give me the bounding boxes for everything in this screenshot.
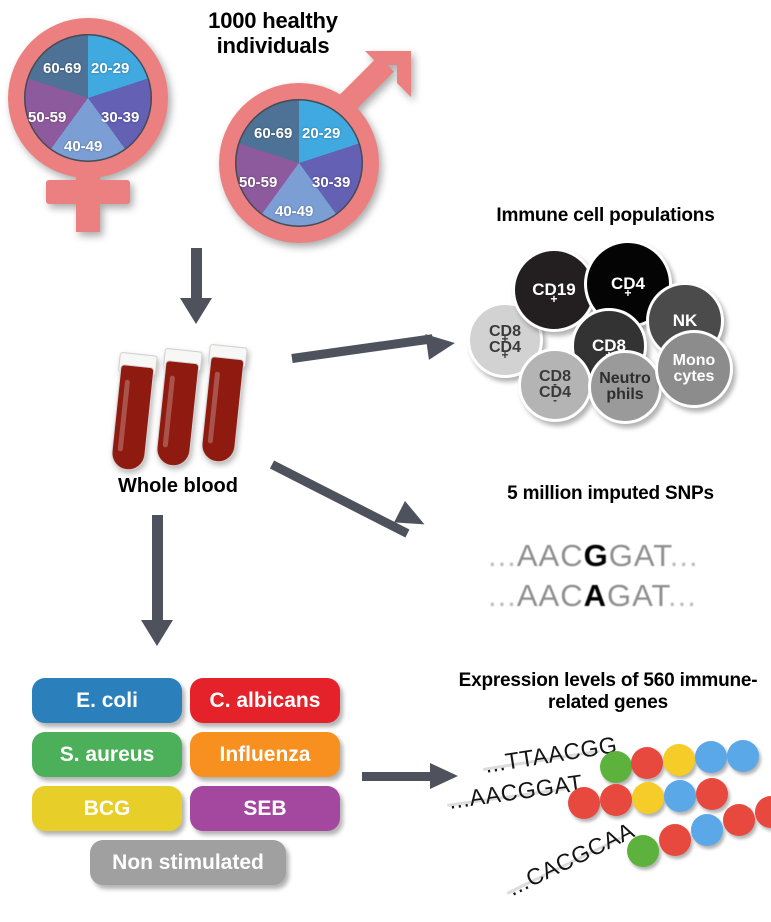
cell-label-line2: CD4- (539, 385, 571, 401)
female-stem-cross (46, 180, 130, 204)
cell-label: CD4+ (611, 275, 645, 292)
cell-label-line1: Neutro (599, 371, 651, 387)
arrow-blood-to-snps (272, 450, 462, 560)
pie-label-50-59-female: 50-59 (28, 109, 66, 126)
cell-label-line2: CD4+ (489, 340, 521, 356)
rna-bead (727, 740, 759, 772)
section-title-immune-cells: Immune cell populations (440, 205, 771, 227)
rna-bead (664, 780, 696, 812)
stimulus-seb[interactable]: SEB (190, 786, 340, 831)
snp-suffix: ... (670, 538, 699, 573)
rna-bead (695, 741, 727, 773)
rna-sequence-2: ...AACGGAT (447, 769, 584, 815)
male-gender-symbol: 60-69 20-29 50-59 30-39 40-49 (205, 55, 410, 250)
rna-bead (600, 784, 632, 816)
section-title-snps: 5 million imputed SNPs (450, 483, 771, 505)
snp-sequence-row-2: ...AACAGAT... (488, 578, 697, 614)
stimulus-influenza[interactable]: Influenza (190, 732, 340, 777)
pie-label-40-49-female: 40-49 (64, 138, 102, 155)
cell-label: CD19+ (532, 281, 575, 298)
rna-bead (632, 782, 664, 814)
rna-bead (627, 835, 659, 867)
snp-prefix: ... (488, 538, 517, 573)
rna-bead (631, 747, 663, 779)
rna-sequence-3: ...CACGCAA (503, 817, 639, 902)
pie-label-30-39-female: 30-39 (101, 109, 139, 126)
whole-blood-tubes (118, 338, 293, 473)
snp-variant-allele: A (584, 578, 607, 613)
snp-sequence-row-1: ...AACGGAT... (488, 538, 699, 574)
stimulus-c-albicans[interactable]: C. albicans (190, 678, 340, 723)
pie-label-40-49-male: 40-49 (275, 203, 313, 220)
snp-right: GAT (607, 578, 668, 613)
stimulation-conditions-grid: E. coli C. albicans S. aureus Influenza … (32, 678, 344, 893)
stimulus-non-stimulated[interactable]: Non stimulated (90, 840, 286, 885)
snp-prefix: ... (488, 578, 517, 613)
rna-bead (600, 751, 632, 783)
rna-sequence-1: ...TTAACGG (483, 731, 619, 779)
pie-label-20-29-female: 20-29 (91, 60, 129, 77)
stimulus-s-aureus[interactable]: S. aureus (32, 732, 182, 777)
rna-strands-group: ...TTAACGG ...AACGGAT ...CACGCAA (455, 740, 771, 910)
pie-label-30-39-male: 30-39 (312, 174, 350, 191)
snp-left: AAC (517, 538, 584, 573)
snp-variant-allele: G (584, 538, 609, 573)
stimulus-bcg[interactable]: BCG (32, 786, 182, 831)
pie-label-50-59-male: 50-59 (239, 174, 277, 191)
cell-label-line1: Mono (673, 353, 716, 369)
rna-bead (723, 804, 755, 836)
snp-suffix: ... (668, 578, 697, 613)
cell-label: NK (673, 312, 698, 329)
cell-label-line1: CD8+ (489, 324, 521, 340)
diagram-canvas: 1000 healthy individuals 60-69 20-29 50-… (0, 0, 771, 922)
rna-bead (755, 796, 771, 828)
section-title-expression: Expression levels of 560 immune-related … (445, 670, 771, 714)
cell-label-line2: phils (599, 387, 651, 403)
whole-blood-label: Whole blood (88, 475, 268, 498)
cell-monocytes: Mono cytes (655, 330, 733, 408)
rna-bead (696, 778, 728, 810)
snp-left: AAC (517, 578, 584, 613)
cell-label-line1: CD8- (539, 369, 571, 385)
immune-cell-cluster: CD8+ CD4+ CD19+ CD4+ NK CD8+ CD8- CD4- N… (455, 240, 771, 420)
arrow-blood-to-immune (292, 330, 472, 375)
pie-label-60-69-female: 60-69 (43, 60, 81, 77)
rna-bead (568, 787, 600, 819)
pie-label-60-69-male: 60-69 (254, 125, 292, 142)
female-gender-symbol: 60-69 20-29 50-59 30-39 40-49 (8, 18, 198, 243)
cell-label-line2: cytes (673, 369, 716, 385)
rna-bead (659, 824, 691, 856)
cell-cd8neg-cd4neg: CD8- CD4- (518, 348, 592, 422)
cell-neutrophils: Neutro phils (588, 350, 662, 424)
rna-bead (691, 814, 723, 846)
snp-right: GAT (609, 538, 670, 573)
rna-bead (663, 744, 695, 776)
stimulus-e-coli[interactable]: E. coli (32, 678, 182, 723)
pie-label-20-29-male: 20-29 (302, 125, 340, 142)
